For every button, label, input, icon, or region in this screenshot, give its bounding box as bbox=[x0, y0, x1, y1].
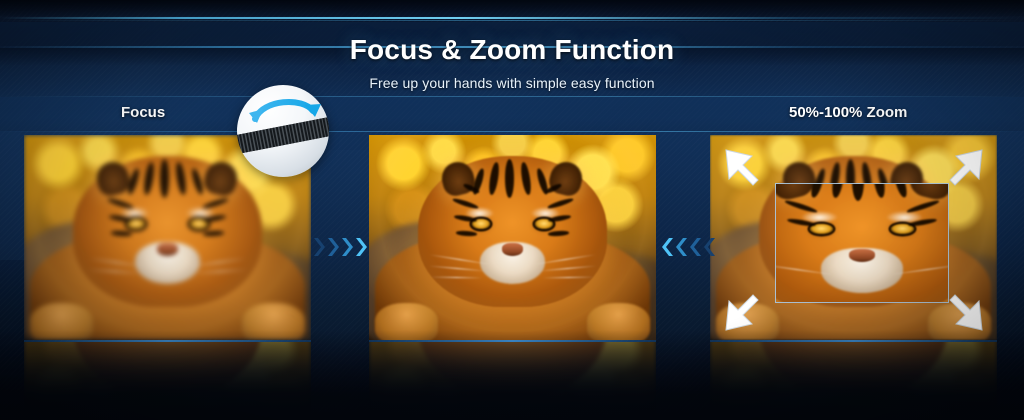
top-glow-line bbox=[0, 17, 1024, 19]
page-title: Focus & Zoom Function bbox=[0, 34, 1024, 66]
zoom-magnified-scene bbox=[776, 184, 948, 302]
zoom-selection-rect[interactable] bbox=[775, 183, 949, 303]
panel-focus-sharp[interactable] bbox=[369, 135, 656, 340]
tiger-photo-sharp bbox=[369, 135, 656, 340]
focus-label: Focus bbox=[121, 104, 165, 121]
top-glow-line-secondary bbox=[0, 20, 1024, 21]
focus-zoom-banner: Focus & Zoom Function Free up your hands… bbox=[0, 0, 1024, 420]
focus-dial-icon[interactable] bbox=[237, 85, 329, 177]
expand-arrow-bottom-right-icon bbox=[930, 278, 986, 334]
expand-arrow-top-right-icon bbox=[930, 146, 986, 202]
expand-arrow-top-left-icon bbox=[722, 146, 778, 202]
rotate-arrow-icon bbox=[243, 89, 323, 129]
expand-arrow-bottom-left-icon bbox=[722, 278, 778, 334]
chevrons-left bbox=[661, 236, 716, 258]
page-subtitle: Free up your hands with simple easy func… bbox=[0, 75, 1024, 91]
chevrons-right bbox=[313, 236, 368, 258]
tiger-scene bbox=[369, 135, 656, 340]
top-dark-band bbox=[0, 0, 1024, 16]
bottom-fade bbox=[0, 330, 1024, 420]
zoom-label: 50%-100% Zoom bbox=[789, 104, 907, 121]
label-band-bottom-line bbox=[0, 131, 1024, 132]
